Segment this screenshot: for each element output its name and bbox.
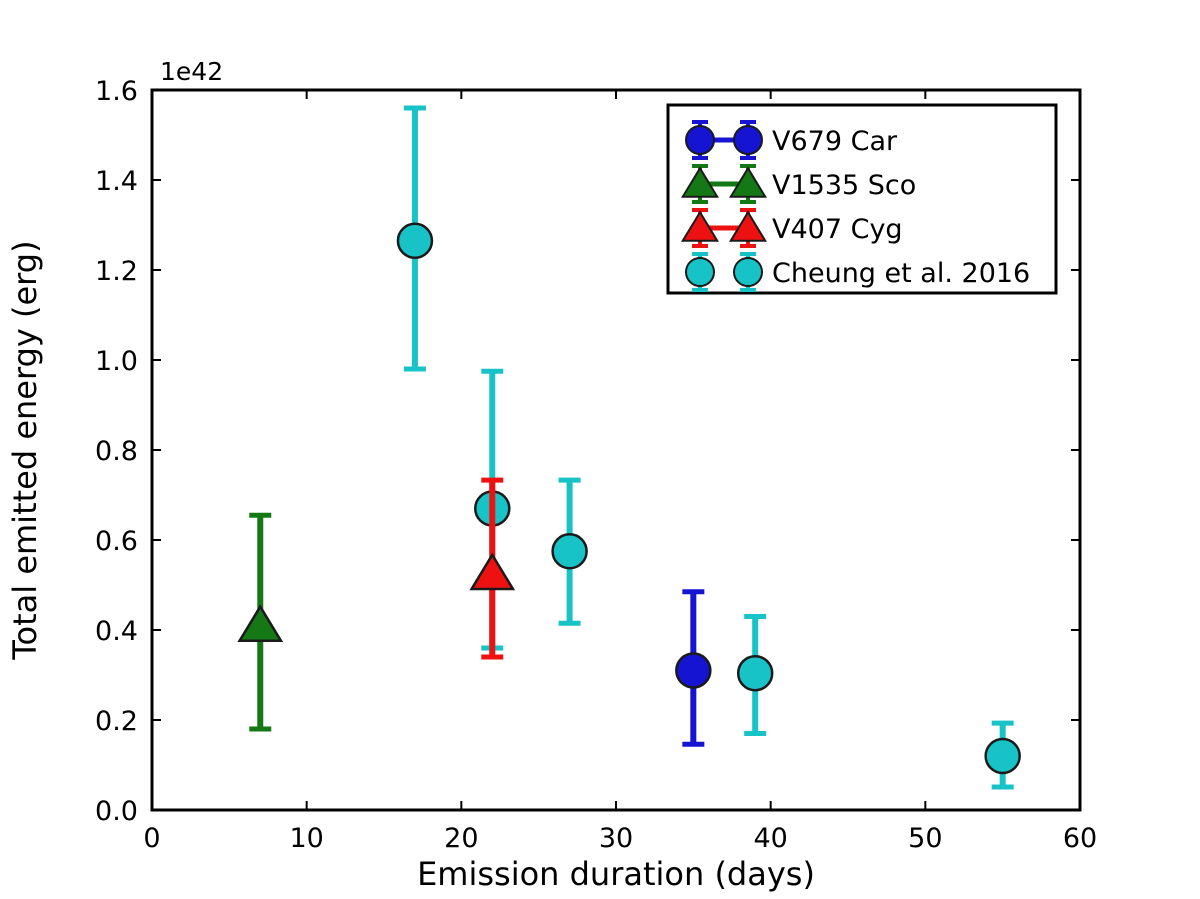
legend-marker xyxy=(686,126,714,154)
y-tick-label: 1.0 xyxy=(95,346,138,377)
legend-label: V1535 Sco xyxy=(772,170,916,201)
legend-marker xyxy=(686,258,714,286)
data-point-marker[interactable] xyxy=(986,739,1020,773)
data-point-marker[interactable] xyxy=(553,534,587,568)
y-tick-label: 0.6 xyxy=(95,526,138,557)
x-tick-label: 30 xyxy=(599,823,633,854)
x-tick-label: 40 xyxy=(753,823,787,854)
data-point-marker[interactable] xyxy=(738,656,772,690)
figure-page: 0102030405060 0.00.20.40.60.81.01.21.41.… xyxy=(0,0,1200,899)
legend-label: Cheung et al. 2016 xyxy=(772,258,1030,289)
y-tick-label: 0.4 xyxy=(95,616,138,647)
x-tick-label: 20 xyxy=(444,823,478,854)
x-tick-label: 10 xyxy=(289,823,323,854)
y-tick-label: 1.4 xyxy=(95,166,138,197)
legend-marker xyxy=(734,126,762,154)
legend[interactable]: V679 CarV1535 ScoV407 CygCheung et al. 2… xyxy=(668,105,1056,293)
scatter-plot-svg: 0102030405060 0.00.20.40.60.81.01.21.41.… xyxy=(0,0,1200,899)
x-tick-label: 60 xyxy=(1063,823,1097,854)
data-point-marker[interactable] xyxy=(676,654,710,688)
y-tick-label: 0.0 xyxy=(95,796,138,827)
y-axis-offset-text: 1e42 xyxy=(160,57,223,86)
legend-label: V407 Cyg xyxy=(772,214,903,245)
y-tick-label: 1.2 xyxy=(95,256,138,287)
y-axis-label: Total emitted energy (erg) xyxy=(6,240,44,660)
x-tick-label: 0 xyxy=(143,823,160,854)
chart-figure: 0102030405060 0.00.20.40.60.81.01.21.41.… xyxy=(0,0,1200,899)
y-tick-label: 0.2 xyxy=(95,706,138,737)
y-tick-label: 1.6 xyxy=(95,76,138,107)
data-point-marker[interactable] xyxy=(398,224,432,258)
legend-marker xyxy=(734,258,762,286)
x-axis-label: Emission duration (days) xyxy=(417,855,815,893)
y-tick-label: 0.8 xyxy=(95,436,138,467)
x-tick-label: 50 xyxy=(908,823,942,854)
legend-label: V679 Car xyxy=(772,126,898,157)
